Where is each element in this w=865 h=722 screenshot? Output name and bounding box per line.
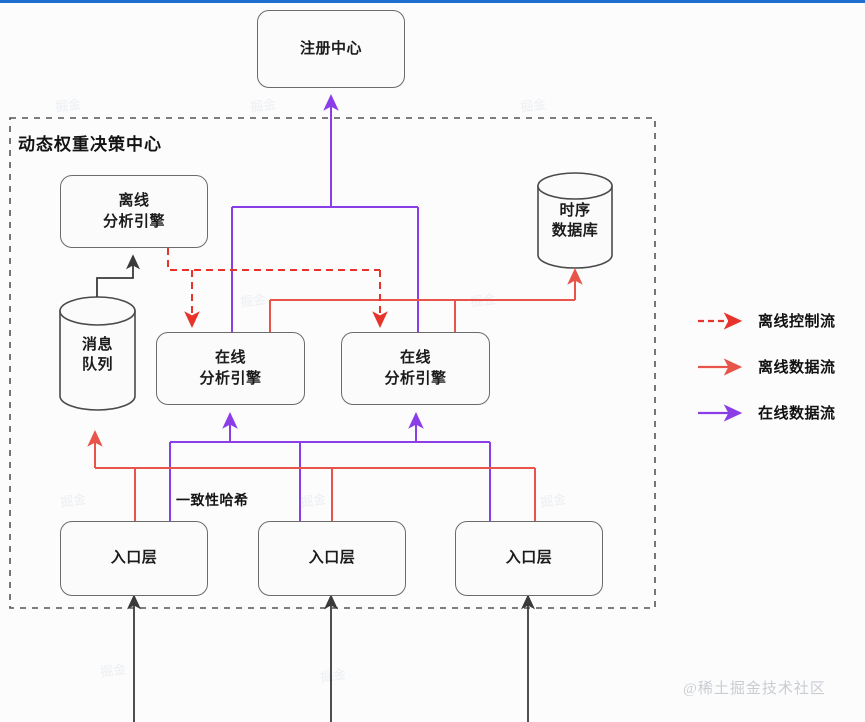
- offline-control-bus: [168, 248, 380, 270]
- node-entry-layer-3[interactable]: 入口层: [455, 521, 603, 596]
- legend-label-offline-data: 离线数据流: [758, 356, 836, 377]
- node-online-engine-left-line2: 分析引擎: [199, 369, 261, 389]
- node-entry-layer-3-label: 入口层: [506, 548, 553, 568]
- zone-title-decision-center: 动态权重决策中心: [18, 130, 162, 155]
- node-offline-engine-line1: 离线: [118, 191, 149, 211]
- watermark-attribution: @稀土掘金技术社区: [683, 677, 826, 698]
- legend-label-online-data: 在线数据流: [758, 402, 836, 423]
- node-registry-center[interactable]: 注册中心: [257, 10, 405, 88]
- node-offline-engine-line2: 分析引擎: [103, 212, 165, 232]
- node-registry-center-label: 注册中心: [300, 39, 362, 59]
- legend-item-online-data: 在线数据流: [758, 402, 836, 423]
- legend-item-offline-data: 离线数据流: [758, 356, 836, 377]
- diagram-canvas: 掘金 掘金 掘金 掘金 掘金 掘金 掘金 掘金 掘金 掘金: [0, 0, 865, 722]
- node-online-engine-left-line1: 在线: [215, 348, 246, 368]
- node-tsdb-line2: 数据库: [552, 221, 599, 241]
- node-online-engine-right-line2: 分析引擎: [384, 369, 446, 389]
- node-time-series-database[interactable]: 时序 数据库: [538, 196, 612, 246]
- legend-label-offline-control: 离线控制流: [758, 310, 836, 331]
- node-online-analysis-engine-left[interactable]: 在线 分析引擎: [156, 332, 305, 405]
- node-entry-layer-2[interactable]: 入口层: [258, 521, 406, 596]
- legend-item-offline-control: 离线控制流: [758, 310, 836, 331]
- queue-to-offline-engine-arrow: [97, 256, 133, 297]
- node-message-queue-line2: 队列: [82, 355, 113, 375]
- node-message-queue-line1: 消息: [82, 335, 113, 355]
- node-message-queue[interactable]: 消息 队列: [60, 325, 135, 385]
- node-tsdb-line1: 时序: [559, 201, 590, 221]
- node-entry-layer-1-label: 入口层: [111, 548, 158, 568]
- edge-label-consistent-hashing: 一致性哈希: [176, 490, 249, 510]
- node-offline-analysis-engine[interactable]: 离线 分析引擎: [60, 175, 208, 248]
- node-entry-layer-2-label: 入口层: [309, 548, 356, 568]
- node-online-engine-right-line1: 在线: [400, 348, 431, 368]
- node-online-analysis-engine-right[interactable]: 在线 分析引擎: [341, 332, 490, 405]
- node-entry-layer-1[interactable]: 入口层: [60, 521, 208, 596]
